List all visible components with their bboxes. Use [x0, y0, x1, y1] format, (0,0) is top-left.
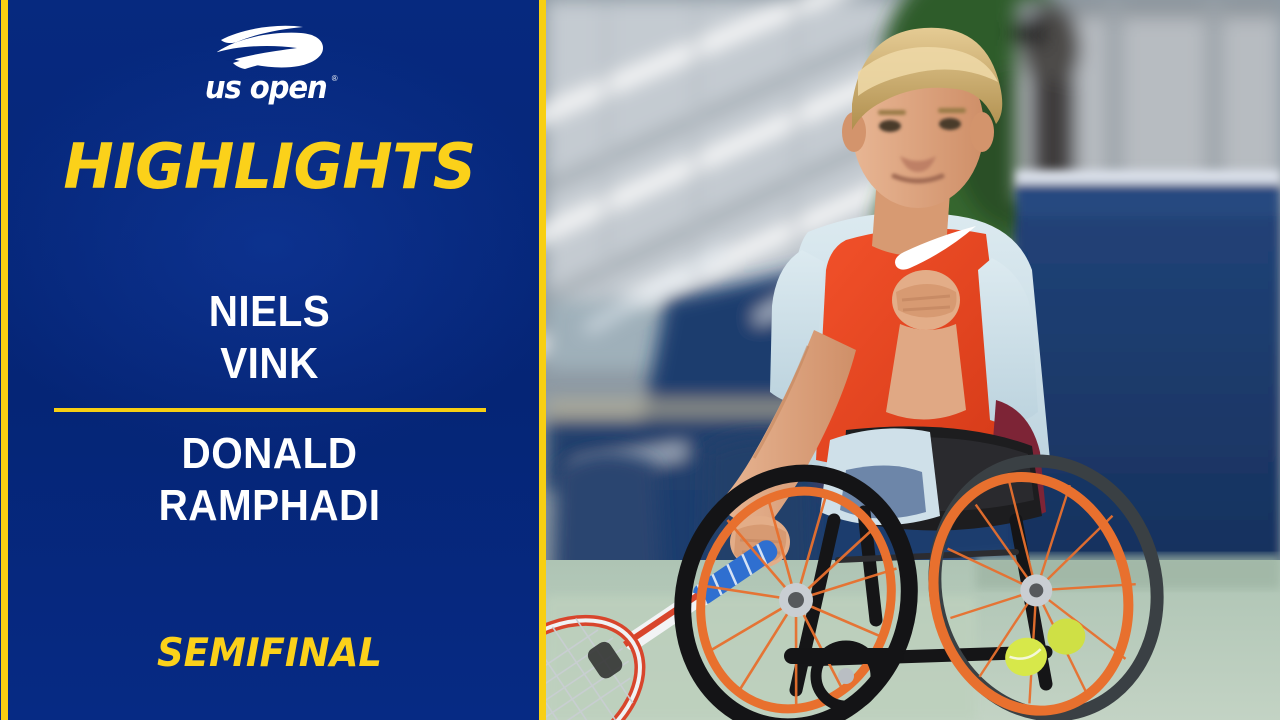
- matchup-divider: [54, 408, 486, 412]
- panel-photo-divider-stripe: [539, 0, 546, 720]
- player-one-last-name: VINK: [22, 338, 518, 390]
- player-two-last-name: RAMPHADI: [22, 480, 518, 532]
- highlights-headline: HIGHLIGHTS: [8, 136, 531, 198]
- player-one-first-name: NIELS: [22, 286, 518, 338]
- us-open-flame-icon: [211, 22, 329, 72]
- matchup-block: NIELS VINK DONALD RAMPHADI: [0, 286, 539, 532]
- left-accent-stripe: [1, 0, 8, 720]
- us-open-wordmark: us open ®: [201, 73, 337, 104]
- wordmark-text: us open: [205, 73, 327, 104]
- player-one-name: NIELS VINK: [22, 286, 518, 390]
- highlights-title-card: us open ® HIGHLIGHTS NIELS VINK DONALD R…: [0, 0, 1280, 720]
- player-two-name: DONALD RAMPHADI: [22, 428, 518, 532]
- round-label: SEMIFINAL: [13, 634, 525, 673]
- match-photo: [546, 0, 1280, 720]
- us-open-logo: us open ®: [0, 22, 539, 104]
- title-panel: us open ® HIGHLIGHTS NIELS VINK DONALD R…: [0, 0, 539, 720]
- player-two-first-name: DONALD: [22, 428, 518, 480]
- registered-mark: ®: [332, 75, 338, 83]
- match-photo-illustration: [546, 0, 1280, 720]
